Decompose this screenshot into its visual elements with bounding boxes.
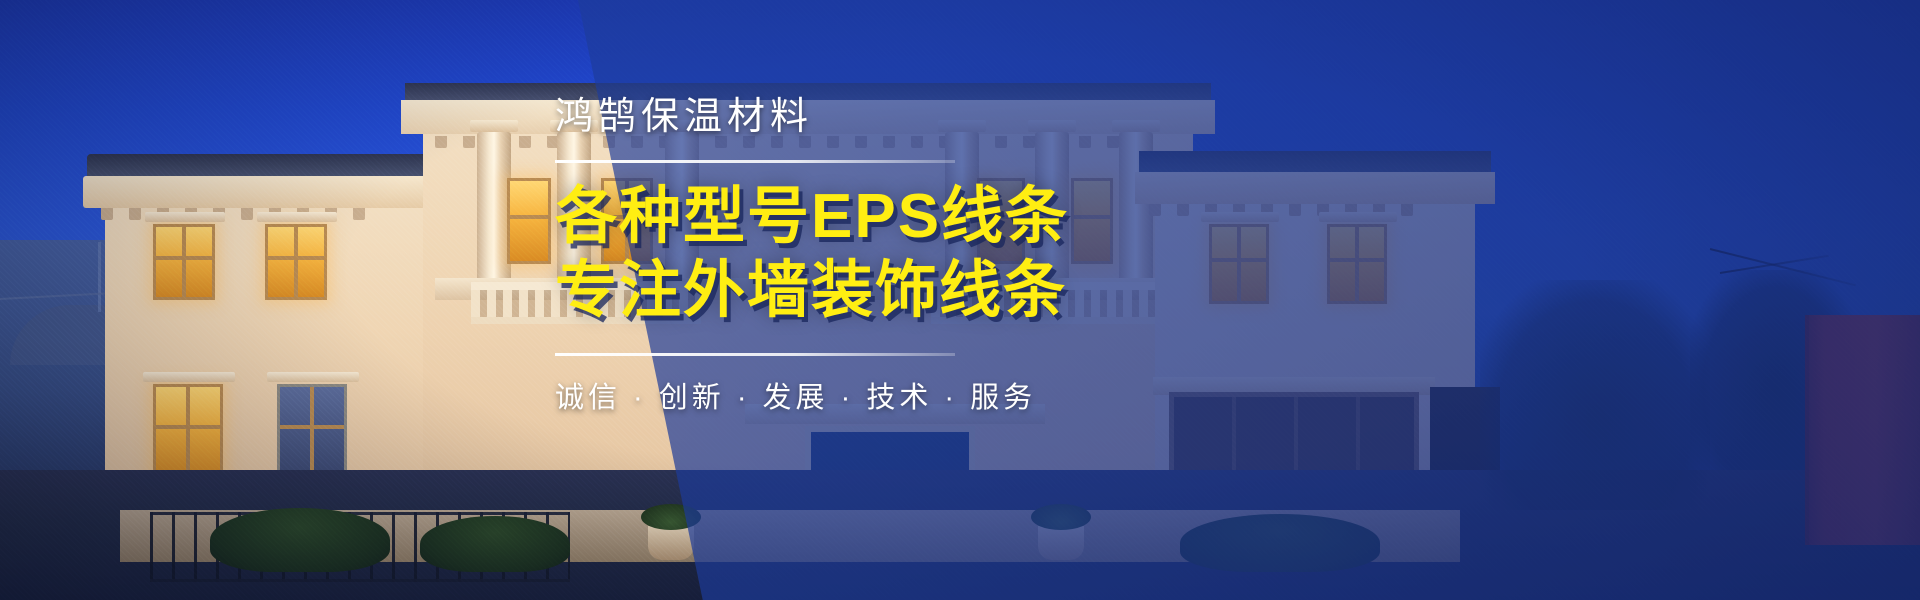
window-upper-left-2 — [265, 224, 327, 300]
red-panel — [1805, 315, 1920, 545]
banner-content: 鸿鹄保温材料 各种型号EPS线条 专注外墙装饰线条 诚信 · 创新 · 发展 ·… — [555, 96, 1455, 416]
promo-banner: 鸿鹄保温材料 各种型号EPS线条 专注外墙装饰线条 诚信 · 创新 · 发展 ·… — [0, 0, 1920, 600]
window-hood-3 — [143, 372, 235, 382]
headline-line-2: 专注外墙装饰线条 — [555, 255, 1455, 327]
brand-name: 鸿鹄保温材料 — [555, 96, 1455, 140]
planter-left — [648, 526, 694, 560]
tree-silhouette-1 — [1480, 280, 1710, 510]
divider-bottom — [555, 353, 955, 356]
window-colonnade-1 — [507, 178, 551, 264]
window-lower-left-1 — [153, 384, 223, 480]
tagline: 诚信 · 创新 · 发展 · 技术 · 服务 — [555, 374, 1455, 416]
hedge-2 — [420, 516, 570, 572]
left-wing-cornice — [83, 176, 457, 208]
divider-top — [555, 160, 955, 163]
hedge-1 — [210, 508, 390, 572]
window-upper-left-1 — [153, 224, 215, 300]
hedge-3 — [1180, 514, 1380, 572]
headline-line-1: 各种型号EPS线条 — [555, 181, 1455, 253]
distant-spire — [98, 242, 101, 312]
window-hood-1 — [145, 212, 225, 222]
planter-right — [1038, 526, 1084, 560]
window-hood-4 — [267, 372, 359, 382]
column-1 — [477, 132, 511, 282]
window-lower-left-2 — [277, 384, 347, 480]
window-hood-2 — [257, 212, 337, 222]
